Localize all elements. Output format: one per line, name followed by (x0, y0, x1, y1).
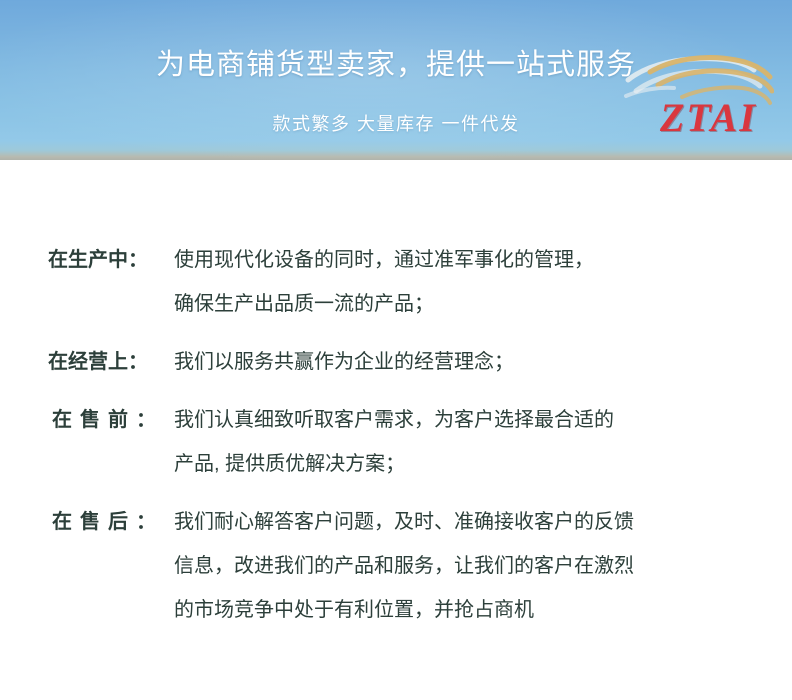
text-line: 确保生产出品质一流的产品； (174, 282, 778, 326)
commitment-text: 我们认真细致听取客户需求，为客户选择最合适的 产品, 提供质优解决方案； (174, 398, 778, 486)
commitment-text: 我们以服务共赢作为企业的经营理念； (174, 340, 778, 384)
text-line: 我们以服务共赢作为企业的经营理念； (174, 340, 778, 384)
commitment-after-sale: 在售后： 我们耐心解答客户问题，及时、准确接收客户的反馈 信息，改进我们的产品和… (0, 500, 792, 632)
commitment-operations: 在经营上： 我们以服务共赢作为企业的经营理念； (0, 340, 792, 384)
commitment-label: 在售前： (48, 398, 174, 442)
brand-logo: ZTAI (630, 50, 778, 150)
text-line: 的市场竞争中处于有利位置，并抢占商机 (174, 588, 778, 632)
text-line: 信息，改进我们的产品和服务，让我们的客户在激烈 (174, 544, 778, 588)
text-line: 我们认真细致听取客户需求，为客户选择最合适的 (174, 398, 778, 442)
header-banner: 为电商铺货型卖家，提供一站式服务 款式繁多 大量库存 一件代发 ZTAI (0, 0, 792, 160)
commitment-text: 我们耐心解答客户问题，及时、准确接收客户的反馈 信息，改进我们的产品和服务，让我… (174, 500, 778, 632)
commitment-label: 在售后： (48, 500, 174, 544)
commitment-label: 在经营上： (48, 340, 174, 384)
text-line: 产品, 提供质优解决方案； (174, 442, 778, 486)
text-line: 我们耐心解答客户问题，及时、准确接收客户的反馈 (174, 500, 778, 544)
commitment-label: 在生产中： (48, 238, 174, 282)
commitment-text: 使用现代化设备的同时，通过准军事化的管理， 确保生产出品质一流的产品； (174, 238, 778, 326)
commitment-production: 在生产中： 使用现代化设备的同时，通过准军事化的管理， 确保生产出品质一流的产品… (0, 238, 792, 326)
service-commitments: 在生产中： 使用现代化设备的同时，通过准军事化的管理， 确保生产出品质一流的产品… (0, 160, 792, 632)
text-line: 使用现代化设备的同时，通过准军事化的管理， (174, 238, 778, 282)
logo-wordmark: ZTAI (660, 97, 780, 139)
commitment-pre-sale: 在售前： 我们认真细致听取客户需求，为客户选择最合适的 产品, 提供质优解决方案… (0, 398, 792, 486)
